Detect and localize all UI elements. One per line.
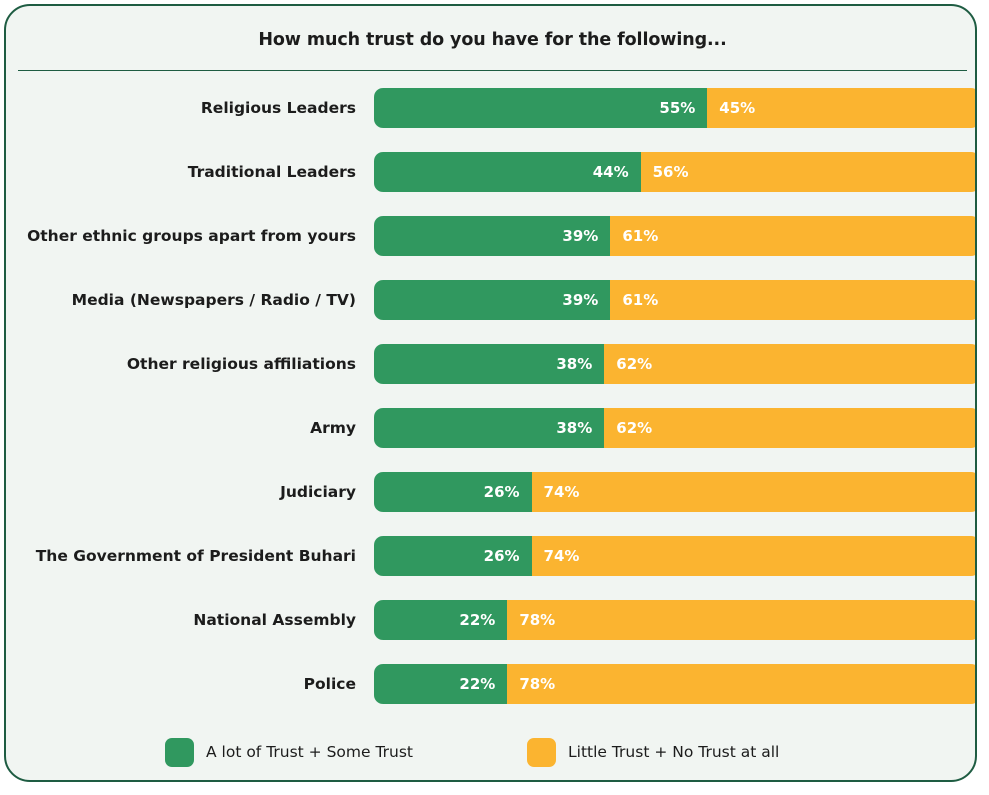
legend-swatch-icon: [527, 738, 556, 767]
bar-row-label: The Government of President Buhari: [6, 536, 356, 576]
bar-row: Traditional Leaders44%56%: [6, 152, 977, 192]
bar-track: 22%78%: [374, 600, 977, 640]
bar-row-label: Army: [6, 408, 356, 448]
legend-label: Little Trust + No Trust at all: [568, 743, 779, 761]
bar-segment-trust-value: 39%: [562, 227, 598, 245]
bar-track: 26%74%: [374, 472, 977, 512]
legend-label: A lot of Trust + Some Trust: [206, 743, 413, 761]
bar-row-label: Religious Leaders: [6, 88, 356, 128]
bar-segment-trust: 38%: [374, 408, 604, 448]
bar-track: 55%45%: [374, 88, 977, 128]
bar-segment-distrust-value: 45%: [719, 99, 755, 117]
bar-segment-distrust-value: 62%: [616, 355, 652, 373]
bar-row: Religious Leaders55%45%: [6, 88, 977, 128]
page-title: How much trust do you have for the follo…: [6, 30, 977, 50]
bar-segment-distrust: 62%: [604, 408, 977, 448]
bar-segment-distrust: 45%: [707, 88, 977, 128]
bar-track: 39%61%: [374, 280, 977, 320]
bar-row: Army38%62%: [6, 408, 977, 448]
bar-segment-distrust-value: 61%: [622, 227, 658, 245]
chart-card: How much trust do you have for the follo…: [4, 4, 977, 782]
bar-track: 44%56%: [374, 152, 977, 192]
bar-segment-trust-value: 22%: [459, 675, 495, 693]
bar-track: 38%62%: [374, 408, 977, 448]
bar-row-label: Traditional Leaders: [6, 152, 356, 192]
bar-segment-distrust: 56%: [641, 152, 977, 192]
bar-row-label: Other religious affiliations: [6, 344, 356, 384]
bar-segment-distrust: 61%: [610, 280, 977, 320]
bar-segment-distrust-value: 78%: [519, 611, 555, 629]
bar-segment-distrust: 78%: [507, 664, 977, 704]
bar-segment-distrust-value: 74%: [544, 547, 580, 565]
chart-legend: A lot of Trust + Some TrustLittle Trust …: [6, 734, 977, 774]
bar-segment-trust: 39%: [374, 280, 610, 320]
title-divider: [18, 70, 967, 71]
bar-track: 38%62%: [374, 344, 977, 384]
bar-segment-distrust-value: 78%: [519, 675, 555, 693]
bar-segment-trust: 22%: [374, 664, 507, 704]
bar-row: Media (Newspapers / Radio / TV)39%61%: [6, 280, 977, 320]
bar-segment-trust-value: 26%: [484, 547, 520, 565]
bar-segment-trust-value: 55%: [659, 99, 695, 117]
bar-segment-trust: 44%: [374, 152, 641, 192]
bar-segment-trust-value: 38%: [556, 419, 592, 437]
bar-row: Judiciary26%74%: [6, 472, 977, 512]
bar-row-label: Police: [6, 664, 356, 704]
bar-segment-trust-value: 22%: [459, 611, 495, 629]
bar-segment-distrust: 62%: [604, 344, 977, 384]
bar-segment-trust: 38%: [374, 344, 604, 384]
legend-item[interactable]: Little Trust + No Trust at all: [527, 734, 779, 770]
bar-segment-trust: 39%: [374, 216, 610, 256]
bar-row-label: Other ethnic groups apart from yours: [6, 216, 356, 256]
bar-row: National Assembly22%78%: [6, 600, 977, 640]
bar-segment-distrust-value: 61%: [622, 291, 658, 309]
bar-segment-distrust: 74%: [532, 472, 977, 512]
bar-row: Police22%78%: [6, 664, 977, 704]
bar-segment-trust: 26%: [374, 472, 532, 512]
bar-row-label: Media (Newspapers / Radio / TV): [6, 280, 356, 320]
bar-track: 39%61%: [374, 216, 977, 256]
legend-swatch-icon: [165, 738, 194, 767]
bar-segment-distrust-value: 62%: [616, 419, 652, 437]
bar-segment-trust: 26%: [374, 536, 532, 576]
bar-row: Other religious affiliations38%62%: [6, 344, 977, 384]
bar-segment-trust-value: 38%: [556, 355, 592, 373]
bar-segment-trust: 55%: [374, 88, 707, 128]
bar-segment-distrust: 61%: [610, 216, 977, 256]
bar-track: 26%74%: [374, 536, 977, 576]
bar-segment-distrust: 74%: [532, 536, 977, 576]
bar-segment-distrust-value: 56%: [653, 163, 689, 181]
bar-segment-trust: 22%: [374, 600, 507, 640]
bar-segment-trust-value: 44%: [593, 163, 629, 181]
bar-segment-distrust-value: 74%: [544, 483, 580, 501]
chart-plot-area: Religious Leaders55%45%Traditional Leade…: [6, 82, 977, 722]
bar-row: The Government of President Buhari26%74%: [6, 536, 977, 576]
bar-row: Other ethnic groups apart from yours39%6…: [6, 216, 977, 256]
bar-segment-trust-value: 26%: [484, 483, 520, 501]
bar-row-label: Judiciary: [6, 472, 356, 512]
bar-segment-trust-value: 39%: [562, 291, 598, 309]
bar-segment-distrust: 78%: [507, 600, 977, 640]
bar-track: 22%78%: [374, 664, 977, 704]
bar-row-label: National Assembly: [6, 600, 356, 640]
legend-item[interactable]: A lot of Trust + Some Trust: [165, 734, 413, 770]
